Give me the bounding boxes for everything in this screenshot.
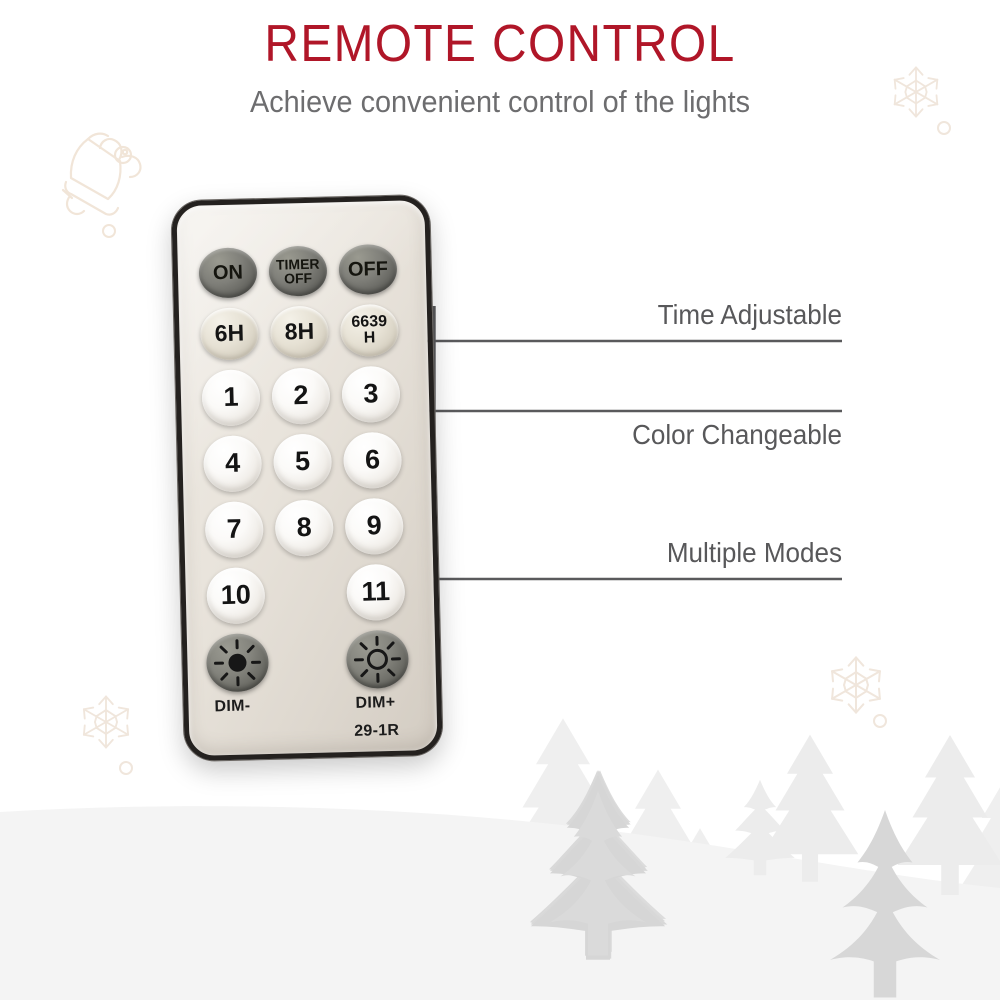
- button-6h[interactable]: 6H: [200, 307, 259, 360]
- button-5[interactable]: 5: [273, 433, 332, 490]
- button-dim-up[interactable]: [346, 630, 409, 689]
- button-11[interactable]: 11: [346, 564, 405, 621]
- infographic-canvas: REMOTE CONTROL Achieve convenient contro…: [0, 0, 1000, 1000]
- remote-button-grid: ON TIMER OFF OFF 6H 8H 6639 H 1 2 3 4 5 …: [171, 195, 443, 761]
- button-3[interactable]: 3: [341, 366, 400, 423]
- button-4[interactable]: 4: [203, 435, 262, 492]
- callout-leader-lines: [0, 0, 1000, 1000]
- callout-multiple-modes: Multiple Modes: [59, 537, 842, 569]
- label-dim-down: DIM-: [214, 697, 250, 716]
- button-1[interactable]: 1: [201, 369, 260, 426]
- button-dim-down[interactable]: [206, 633, 269, 692]
- button-on[interactable]: ON: [198, 247, 257, 298]
- button-7[interactable]: 7: [205, 501, 264, 558]
- button-8h[interactable]: 8H: [270, 305, 329, 358]
- button-6639h[interactable]: 6639 H: [340, 304, 399, 357]
- button-8[interactable]: 8: [275, 499, 334, 556]
- button-9[interactable]: 9: [345, 498, 404, 555]
- button-2[interactable]: 2: [271, 367, 330, 424]
- button-6[interactable]: 6: [343, 432, 402, 489]
- button-timer-off[interactable]: TIMER OFF: [268, 245, 327, 296]
- button-10[interactable]: 10: [206, 567, 265, 624]
- sun-hollow-icon: [346, 630, 409, 689]
- button-off[interactable]: OFF: [338, 244, 397, 295]
- remote-control-device: ON TIMER OFF OFF 6H 8H 6639 H 1 2 3 4 5 …: [171, 195, 443, 761]
- label-model-number: 29-1R: [354, 722, 400, 741]
- label-dim-up: DIM+: [355, 694, 395, 713]
- sun-filled-icon: [206, 633, 269, 692]
